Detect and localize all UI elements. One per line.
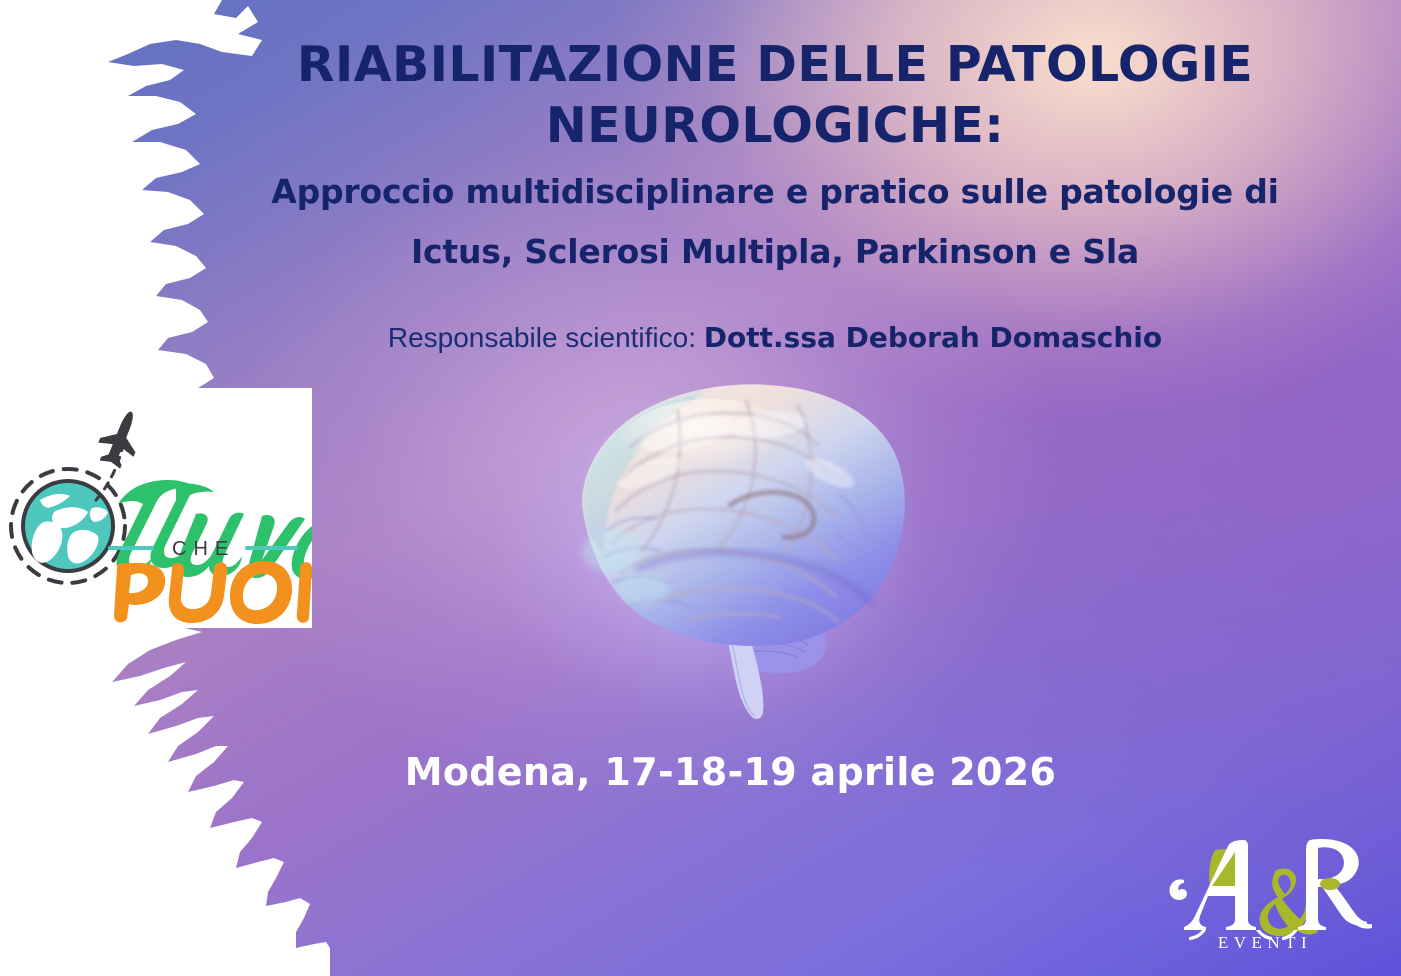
organizer-letter-r-accent <box>1320 878 1340 890</box>
heading-line-1: RIABILITAZIONE DELLE PATOLOGIE <box>170 34 1380 95</box>
subheading-line-2: Ictus, Sclerosi Multipla, Parkinson e Sl… <box>170 228 1380 276</box>
sponsor-middle-text: CHE <box>172 538 235 560</box>
sponsor-logo: CHE <box>0 388 312 628</box>
title-block: RIABILITAZIONE DELLE PATOLOGIE NEUROLOGI… <box>170 34 1380 356</box>
subheading-line-1: Approccio multidisciplinare e pratico su… <box>170 168 1380 216</box>
heading-line-2: NEUROLOGICHE: <box>170 95 1380 156</box>
scientific-director-label: Responsabile scientifico: <box>388 322 696 353</box>
organizer-subtitle: EVENTI <box>1218 933 1312 952</box>
event-date: Modena, 17-18-19 aprile 2026 <box>0 750 1401 794</box>
poster-canvas: RIABILITAZIONE DELLE PATOLOGIE NEUROLOGI… <box>0 0 1401 976</box>
brain-illustration <box>480 355 950 735</box>
scientific-director: Responsabile scientifico: Dott.ssa Debor… <box>170 320 1380 356</box>
organizer-letter-a <box>1169 840 1272 940</box>
organizer-logo: EVENTI <box>1158 824 1373 954</box>
scientific-director-name: Dott.ssa Deborah Domaschio <box>704 321 1162 354</box>
